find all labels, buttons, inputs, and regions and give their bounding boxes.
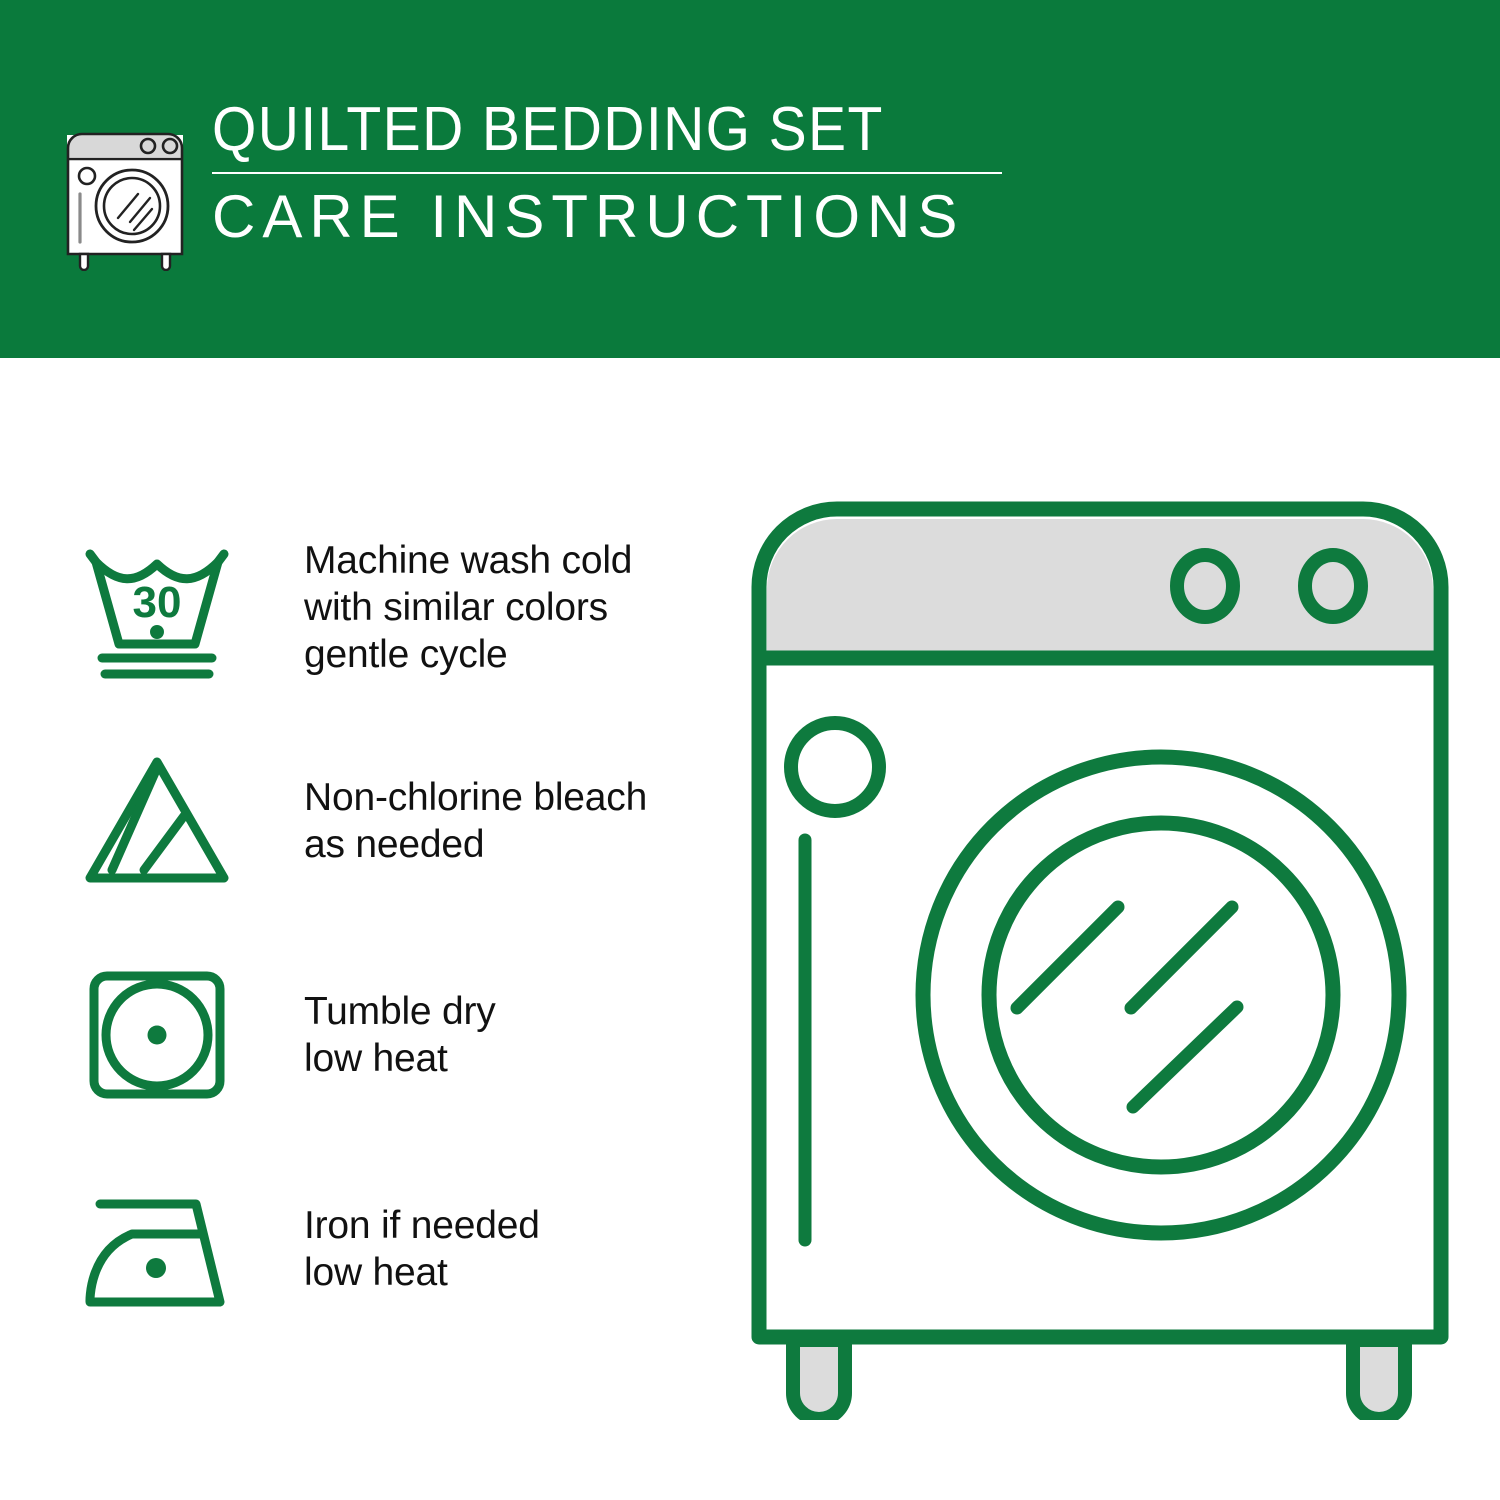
care-text: Machine wash cold with similar colors ge… — [304, 537, 632, 678]
care-row: Iron if needed low heat — [72, 1142, 712, 1356]
non-chlorine-bleach-triangle-icon — [72, 741, 242, 901]
care-row: 30 Machine wash cold with similar colors… — [72, 500, 712, 714]
care-row: Non-chlorine bleach as needed — [72, 714, 712, 928]
page-title: QUILTED BEDDING SET — [212, 96, 939, 164]
care-line: low heat — [304, 1035, 496, 1082]
header-band: QUILTED BEDDING SET CARE INSTRUCTIONS — [0, 0, 1500, 358]
care-line: Non-chlorine bleach — [304, 774, 647, 821]
care-line: with similar colors — [304, 584, 632, 631]
care-text: Iron if needed low heat — [304, 1202, 540, 1296]
care-line: low heat — [304, 1249, 540, 1296]
care-text: Non-chlorine bleach as needed — [304, 774, 647, 868]
title-block: QUILTED BEDDING SET CARE INSTRUCTIONS — [212, 96, 1002, 252]
care-line: gentle cycle — [304, 631, 632, 678]
wash-temperature-label: 30 — [133, 578, 182, 627]
care-line: Tumble dry — [304, 988, 496, 1035]
iron-low-heat-icon — [72, 1169, 242, 1329]
leg-right — [1353, 1340, 1405, 1419]
header-content: QUILTED BEDDING SET CARE INSTRUCTIONS — [60, 96, 1002, 271]
care-text: Tumble dry low heat — [304, 988, 496, 1082]
care-line: Machine wash cold — [304, 537, 632, 584]
care-row: Tumble dry low heat — [72, 928, 712, 1142]
leg-left — [793, 1340, 845, 1419]
care-instructions-page: QUILTED BEDDING SET CARE INSTRUCTIONS 30 — [0, 0, 1500, 1500]
wash-tub-30-gentle-icon: 30 — [72, 527, 242, 687]
title-divider — [212, 172, 1002, 174]
care-line: as needed — [304, 821, 647, 868]
front-load-washing-machine-illustration — [745, 495, 1455, 1420]
page-subtitle: CARE INSTRUCTIONS — [212, 182, 1002, 252]
washing-machine-icon — [60, 106, 190, 271]
control-panel — [767, 519, 1433, 655]
care-line: Iron if needed — [304, 1202, 540, 1249]
care-instruction-list: 30 Machine wash cold with similar colors… — [72, 500, 712, 1356]
tumble-dry-low-heat-icon — [72, 955, 242, 1115]
